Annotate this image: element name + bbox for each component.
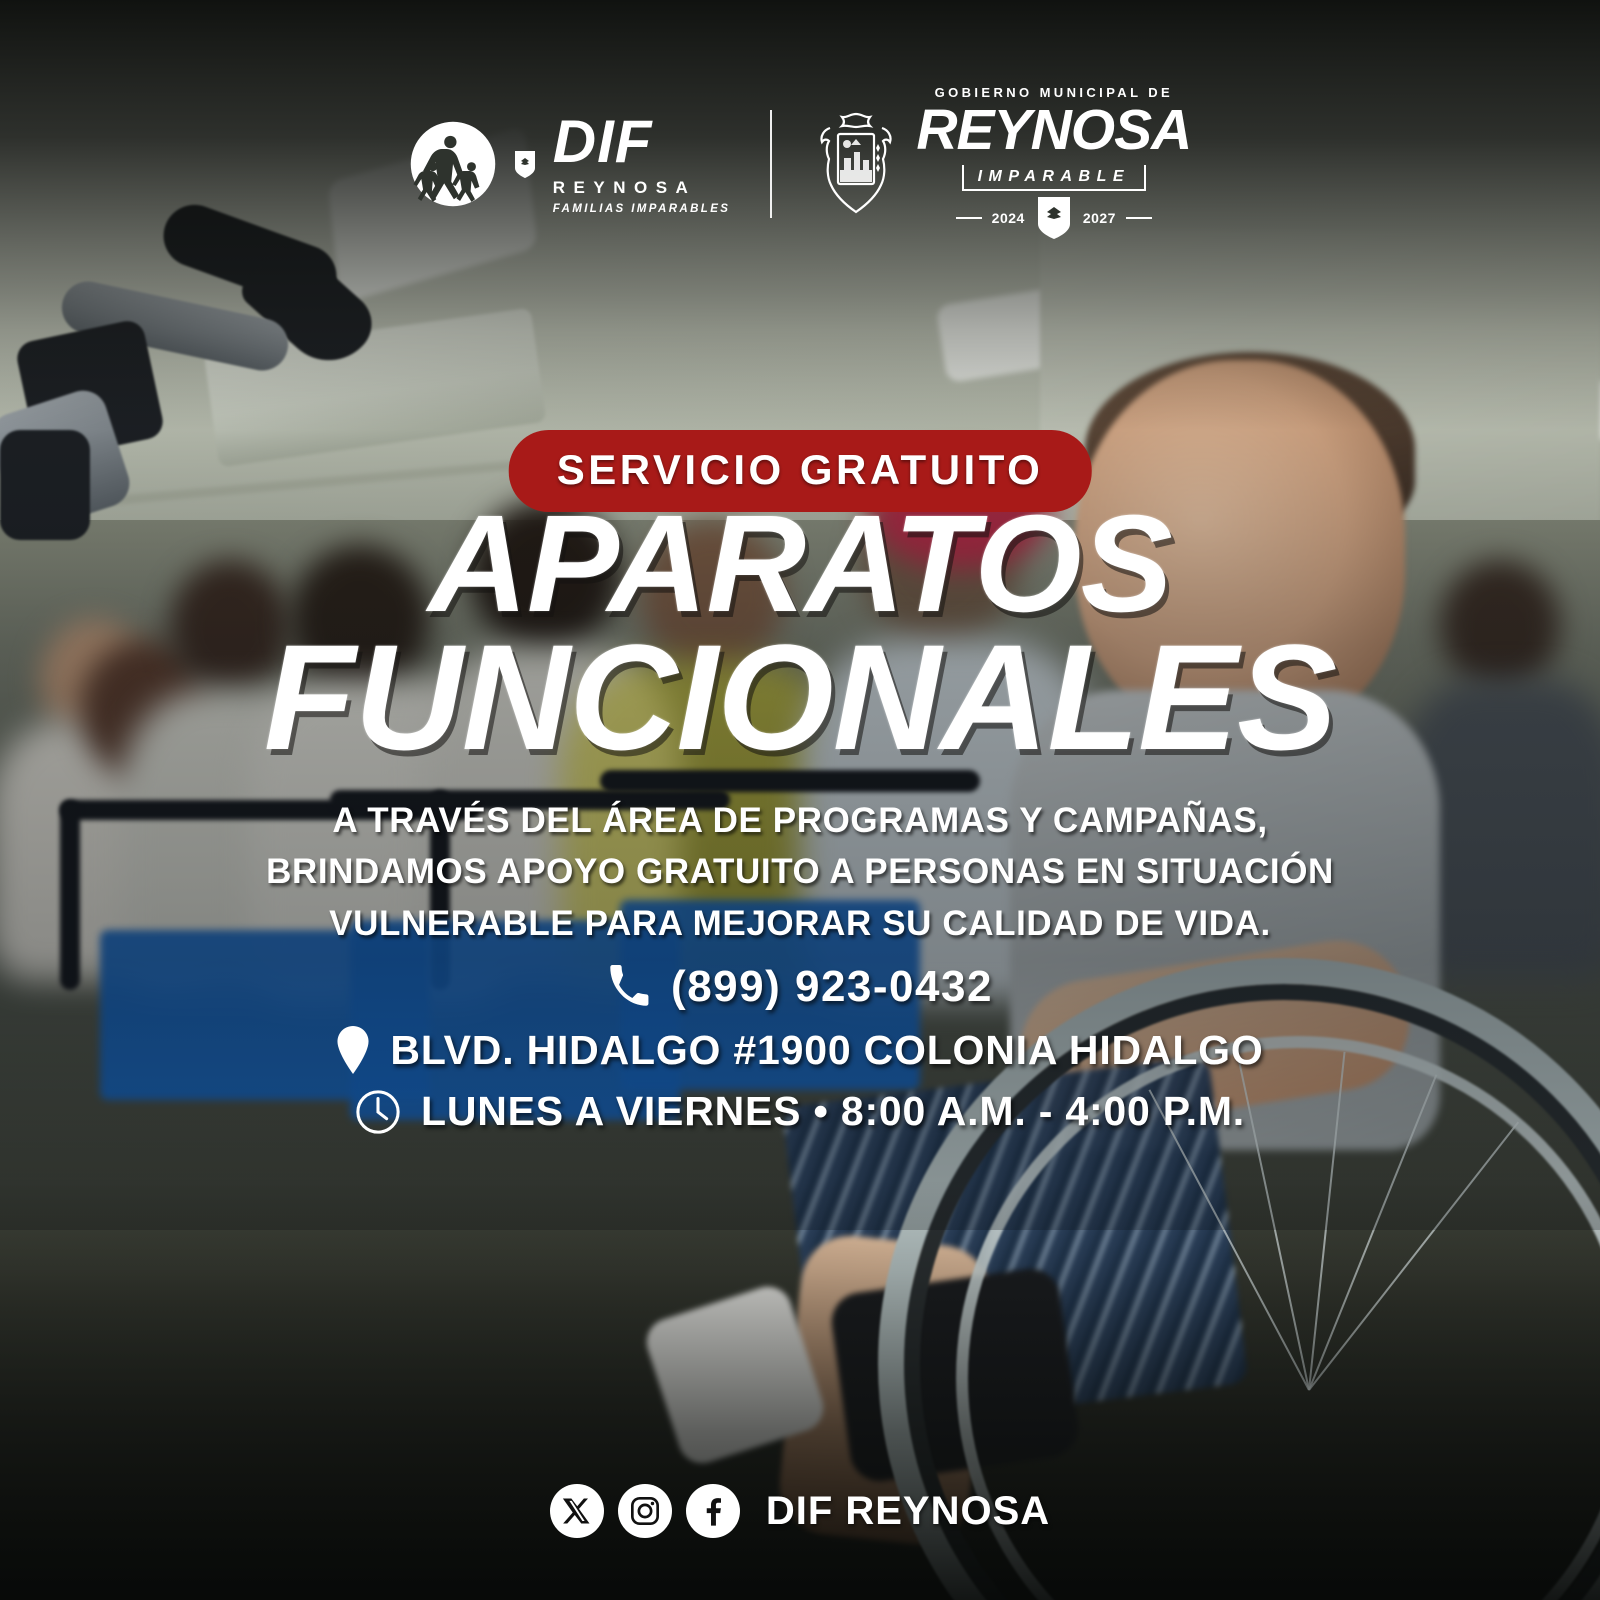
contact-row-phone[interactable]: (899) 923-0432 xyxy=(0,962,1600,1012)
year-rule-right xyxy=(1126,217,1152,219)
description-line-2: BRINDAMOS APOYO GRATUITO A PERSONAS EN S… xyxy=(0,846,1600,897)
year-start: 2024 xyxy=(992,211,1025,225)
reynosa-imparable: IMPARABLE xyxy=(962,165,1146,191)
dif-family-icon xyxy=(409,120,497,208)
reynosa-years: 2024 2027 xyxy=(956,195,1152,241)
year-end: 2027 xyxy=(1083,211,1116,225)
dif-word: DIF xyxy=(553,112,653,172)
x-twitter-icon[interactable] xyxy=(550,1484,604,1538)
reynosa-coat-of-arms-icon xyxy=(812,108,900,220)
eagle-shield-icon xyxy=(1035,195,1073,241)
description: A TRAVÉS DEL ÁREA DE PROGRAMAS Y CAMPAÑA… xyxy=(0,795,1600,949)
header-divider xyxy=(770,110,772,218)
dif-logo-lockup: DIF REYNOSA FAMILIAS IMPARABLES xyxy=(409,112,731,216)
logo-header: DIF REYNOSA FAMILIAS IMPARABLES xyxy=(0,86,1600,241)
dif-wordmark: DIF REYNOSA FAMILIAS IMPARABLES xyxy=(553,112,731,216)
clock-icon xyxy=(355,1089,401,1135)
location-pin-icon xyxy=(336,1026,370,1074)
hours-text: LUNES A VIERNES • 8:00 A.M. - 4:00 P.M. xyxy=(421,1088,1245,1135)
description-line-3: VULNERABLE PARA MEJORAR SU CALIDAD DE VI… xyxy=(0,898,1600,949)
poster-content: DIF REYNOSA FAMILIAS IMPARABLES xyxy=(0,0,1600,1600)
reynosa-imparable-label: IMPARABLE xyxy=(978,168,1130,185)
facebook-icon[interactable] xyxy=(686,1484,740,1538)
dif-subword: REYNOSA xyxy=(553,179,697,196)
phone-icon xyxy=(607,965,651,1009)
reynosa-wordmark: GOBIERNO MUNICIPAL DE REYNOSA IMPARABLE … xyxy=(916,86,1191,241)
poster: DIF REYNOSA FAMILIAS IMPARABLES xyxy=(0,0,1600,1600)
address-text: BLVD. HIDALGO #1900 COLONIA HIDALGO xyxy=(390,1027,1263,1074)
description-line-1: A TRAVÉS DEL ÁREA DE PROGRAMAS Y CAMPAÑA… xyxy=(0,795,1600,846)
reynosa-word: REYNOSA xyxy=(916,102,1191,159)
phone-number: (899) 923-0432 xyxy=(671,962,993,1012)
dif-tagline: FAMILIAS IMPARABLES xyxy=(553,204,731,216)
instagram-icon[interactable] xyxy=(618,1484,672,1538)
reynosa-logo-lockup: GOBIERNO MUNICIPAL DE REYNOSA IMPARABLE … xyxy=(812,86,1191,241)
headline-line-1: APARATOS xyxy=(0,500,1600,628)
social-handle: DIF REYNOSA xyxy=(766,1489,1050,1534)
year-rule-left xyxy=(956,217,982,219)
social-footer: DIF REYNOSA xyxy=(0,1484,1600,1538)
headline-line-2: FUNCIONALES xyxy=(0,628,1600,768)
page-title: APARATOS FUNCIONALES xyxy=(0,500,1600,768)
eagle-shield-icon xyxy=(513,149,537,179)
contact-row-address[interactable]: BLVD. HIDALGO #1900 COLONIA HIDALGO xyxy=(0,1026,1600,1074)
contact-block: (899) 923-0432 BLVD. HIDALGO #1900 COLON… xyxy=(0,962,1600,1149)
contact-row-hours[interactable]: LUNES A VIERNES • 8:00 A.M. - 4:00 P.M. xyxy=(0,1088,1600,1135)
